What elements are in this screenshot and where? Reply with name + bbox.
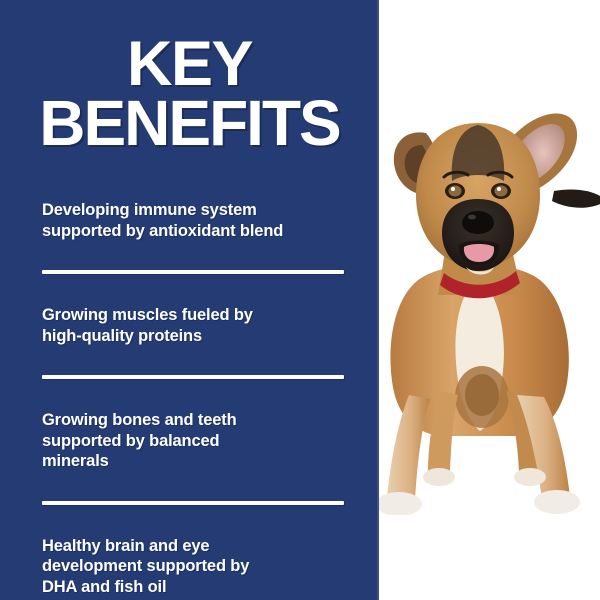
benefit-item-muscles: Growing muscles fueled by high-quality p… xyxy=(42,305,344,346)
dog-paw-rear-right xyxy=(514,468,546,486)
dog-eye-left-highlight xyxy=(451,187,455,191)
dog-ear-tip xyxy=(552,189,600,207)
benefit-item-brain-eye: Healthy brain and eye development suppor… xyxy=(42,536,344,598)
page-title-line-1: KEY xyxy=(0,36,379,94)
page-title: KEY BENEFITS xyxy=(0,36,379,153)
dog-eye-right-highlight xyxy=(497,187,501,191)
dog-front-leg-left xyxy=(387,395,430,501)
key-benefits-card: KEY BENEFITS Developing immune system su… xyxy=(0,0,600,600)
dog-paw-front-right xyxy=(534,490,580,514)
puppy-illustration xyxy=(379,95,600,515)
benefit-item-bones-teeth: Growing bones and teeth supported by bal… xyxy=(42,410,344,472)
puppy-photo xyxy=(379,0,600,600)
page-title-line-2: BENEFITS xyxy=(0,94,379,153)
benefit-text: Developing immune system supported by an… xyxy=(42,200,344,241)
benefit-item-immune-system: Developing immune system supported by an… xyxy=(42,200,344,241)
benefit-spacer xyxy=(42,241,344,270)
dog-eye-right-iris xyxy=(495,186,508,197)
benefits-list: Developing immune system supported by an… xyxy=(42,200,344,597)
benefit-spacer xyxy=(42,472,344,501)
dog-nose-highlight xyxy=(468,215,476,220)
dog-belly-patch-inner xyxy=(465,374,499,416)
benefit-text: Growing bones and teeth supported by bal… xyxy=(42,410,344,472)
dog-paw-rear-left xyxy=(423,468,455,486)
benefit-spacer xyxy=(42,274,344,305)
benefit-spacer xyxy=(42,505,344,536)
dog-eye-left-iris xyxy=(449,186,462,197)
benefit-spacer xyxy=(42,346,344,375)
benefit-text: Healthy brain and eye development suppor… xyxy=(42,536,344,598)
dog-paw-front-left xyxy=(379,492,422,515)
benefit-text: Growing muscles fueled by high-quality p… xyxy=(42,305,344,346)
benefit-spacer xyxy=(42,379,344,410)
dog-nose xyxy=(462,211,494,234)
